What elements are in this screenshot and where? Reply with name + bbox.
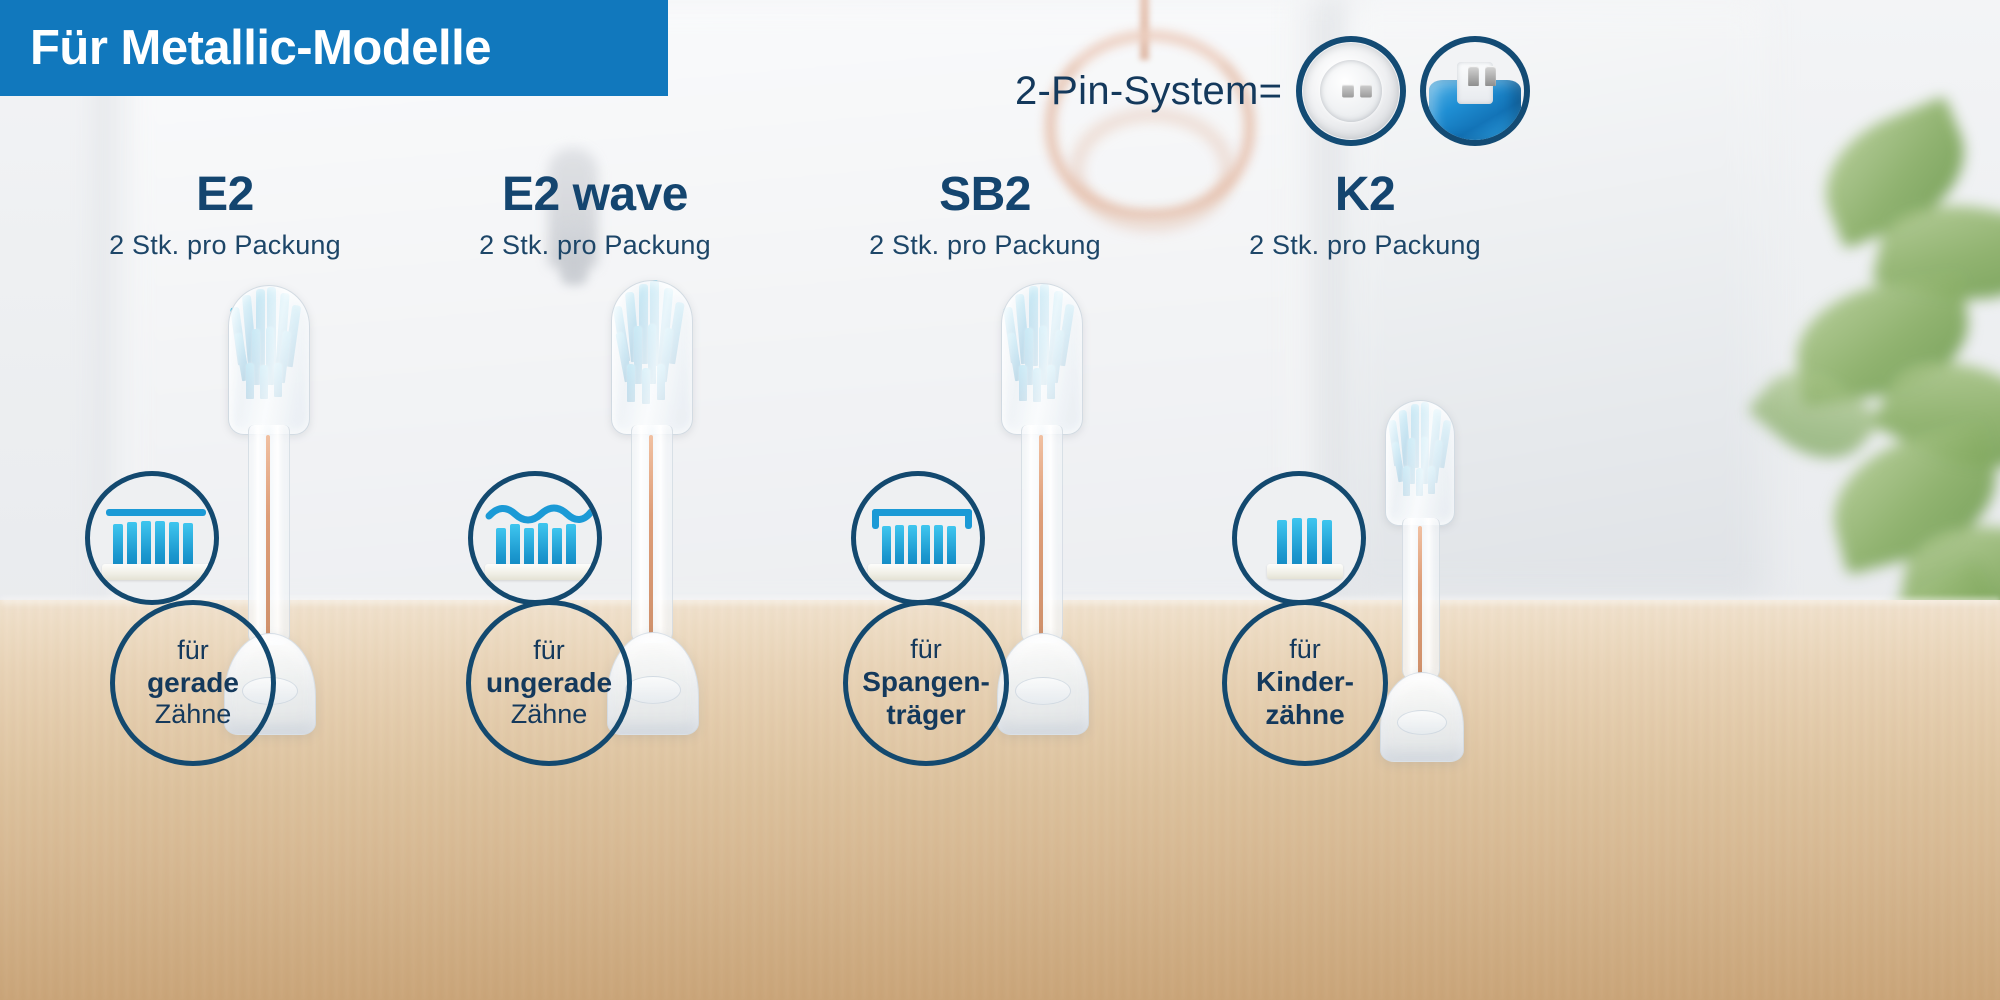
badge-text-sb2: für Spangen- träger bbox=[843, 600, 1009, 766]
brush-head-shell bbox=[611, 280, 693, 435]
badge-text-k2: für Kinder- zähne bbox=[1222, 600, 1388, 766]
braces-bristles-icon bbox=[851, 471, 985, 605]
product-column-sb2: SB2 2 Stk. pro Packung bbox=[795, 170, 1175, 261]
badge-line-2: gerade bbox=[147, 667, 239, 700]
badge-line-2: Spangen- bbox=[862, 666, 990, 699]
pin-system-group: 2-Pin-System= bbox=[1015, 36, 1530, 146]
badge-line-3: träger bbox=[886, 699, 965, 732]
product-column-e2-wave: E2 wave 2 Stk. pro Packung bbox=[405, 170, 785, 261]
brush-inner-wire bbox=[649, 435, 653, 638]
brush-inner-wire bbox=[1418, 526, 1422, 676]
product-title: E2 wave bbox=[405, 170, 785, 220]
straight-bristles-icon bbox=[85, 471, 219, 605]
product-pack-size: 2 Stk. pro Packung bbox=[35, 230, 415, 261]
badge-line-2: Kinder- bbox=[1256, 666, 1354, 699]
brush-base-ring bbox=[625, 676, 681, 704]
banner-title: Für Metallic-Modelle bbox=[0, 20, 491, 76]
brush-head-sb2 bbox=[995, 283, 1105, 735]
badge-line-3: zähne bbox=[1265, 699, 1344, 732]
wavy-bristles-icon bbox=[468, 471, 602, 605]
brush-head-shell bbox=[228, 285, 310, 435]
product-title: K2 bbox=[1175, 170, 1555, 220]
badge-text-e2-wave: für ungerade Zähne bbox=[466, 600, 632, 766]
badge-line-2: ungerade bbox=[486, 667, 612, 700]
product-pack-size: 2 Stk. pro Packung bbox=[1175, 230, 1555, 261]
badge-line-3: Zähne bbox=[511, 699, 588, 731]
product-title: SB2 bbox=[795, 170, 1175, 220]
brush-inner-wire bbox=[266, 435, 270, 640]
badge-line-1: für bbox=[1289, 634, 1321, 666]
brush-head-socket-2pin-icon bbox=[1296, 36, 1406, 146]
brush-base-ring bbox=[1015, 677, 1071, 705]
product-column-e2: E2 2 Stk. pro Packung bbox=[35, 170, 415, 261]
brush-head-shell bbox=[1385, 400, 1455, 526]
brush-head-k2 bbox=[1380, 400, 1480, 760]
handle-top-2pin-icon bbox=[1420, 36, 1530, 146]
badge-line-1: für bbox=[910, 634, 942, 666]
pin-system-label: 2-Pin-System= bbox=[1015, 69, 1282, 114]
brush-inner-wire bbox=[1039, 435, 1043, 638]
badge-line-1: für bbox=[177, 635, 209, 667]
badge-line-3: Zähne bbox=[155, 699, 232, 731]
product-pack-size: 2 Stk. pro Packung bbox=[795, 230, 1175, 261]
header-banner: Für Metallic-Modelle bbox=[0, 0, 668, 96]
kids-bristles-icon bbox=[1232, 471, 1366, 605]
product-column-k2: K2 2 Stk. pro Packung bbox=[1175, 170, 1555, 261]
product-title: E2 bbox=[35, 170, 415, 220]
product-pack-size: 2 Stk. pro Packung bbox=[405, 230, 785, 261]
brush-head-shell bbox=[1001, 283, 1083, 435]
badge-line-1: für bbox=[533, 635, 565, 667]
brush-base-ring bbox=[1397, 710, 1447, 735]
badge-text-e2: für gerade Zähne bbox=[110, 600, 276, 766]
